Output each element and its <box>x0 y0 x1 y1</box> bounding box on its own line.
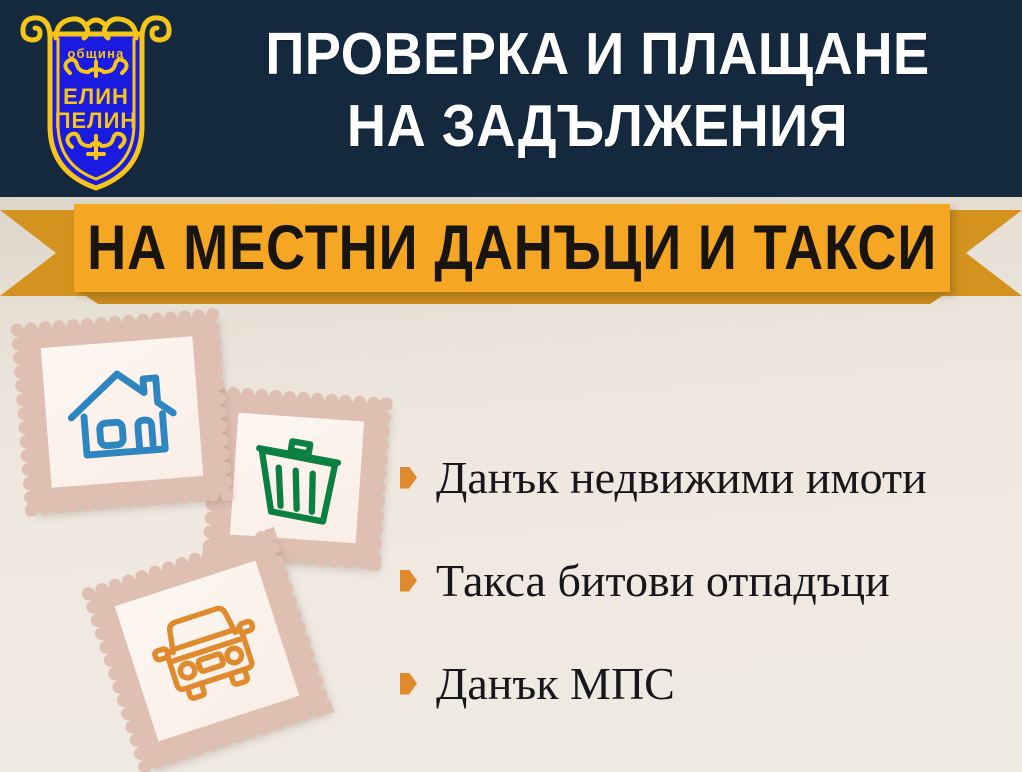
stamp-property-paper <box>41 336 204 487</box>
ribbon-body: НА МЕСТНИ ДАНЪЦИ И ТАКСИ <box>74 204 950 292</box>
stamp-property <box>17 315 227 510</box>
subtitle-ribbon: НА МЕСТНИ ДАНЪЦИ И ТАКСИ <box>0 196 1022 308</box>
stamp-perforation-left <box>10 322 39 517</box>
list-item[interactable]: Такса битови отпадъци <box>400 529 1010 632</box>
header-banner: община ЕЛИН ПЕЛИН ПРОВЕРКА И ПЛАЩАНЕ НА … <box>0 0 1022 197</box>
stamp-perforation-right <box>367 397 393 572</box>
list-item-label: Данък недвижими имоти <box>436 453 927 503</box>
list-item-label: Данък МПС <box>436 659 675 709</box>
tax-type-list: Данък недвижими имоти Такса битови отпад… <box>400 426 1010 735</box>
stamp-vehicle <box>89 535 326 767</box>
crest-municipality-label: община <box>67 46 124 61</box>
crest-name-line1: ЕЛИН <box>63 84 129 109</box>
house-icon <box>59 357 185 468</box>
coat-of-arms-elin-pelin: община ЕЛИН ПЕЛИН <box>14 8 178 194</box>
arrow-bullet-icon <box>400 467 417 489</box>
list-item-label: Такса битови отпадъци <box>436 556 890 606</box>
page-title: ПРОВЕРКА И ПЛАЩАНЕ НА ЗАДЪЛЖЕНИЯ <box>213 18 981 162</box>
page-title-line-2: НА ЗАДЪЛЖЕНИЯ <box>213 90 981 162</box>
ribbon-label: НА МЕСТНИ ДАНЪЦИ И ТАКСИ <box>87 217 937 280</box>
list-item[interactable]: Данък недвижими имоти <box>400 426 1010 529</box>
page-title-line-1: ПРОВЕРКА И ПЛАЩАНЕ <box>213 18 981 90</box>
list-item[interactable]: Данък МПС <box>400 632 1010 735</box>
poster-root: община ЕЛИН ПЕЛИН ПРОВЕРКА И ПЛАЩАНЕ НА … <box>0 0 1022 772</box>
arrow-bullet-icon <box>400 570 417 592</box>
crest-name-line2: ПЕЛИН <box>55 108 138 133</box>
stamp-vehicle-paper <box>115 561 300 742</box>
car-front-icon <box>137 589 278 713</box>
trash-bin-icon <box>247 426 348 530</box>
arrow-bullet-icon <box>400 673 417 695</box>
stamp-waste-paper <box>230 413 364 543</box>
